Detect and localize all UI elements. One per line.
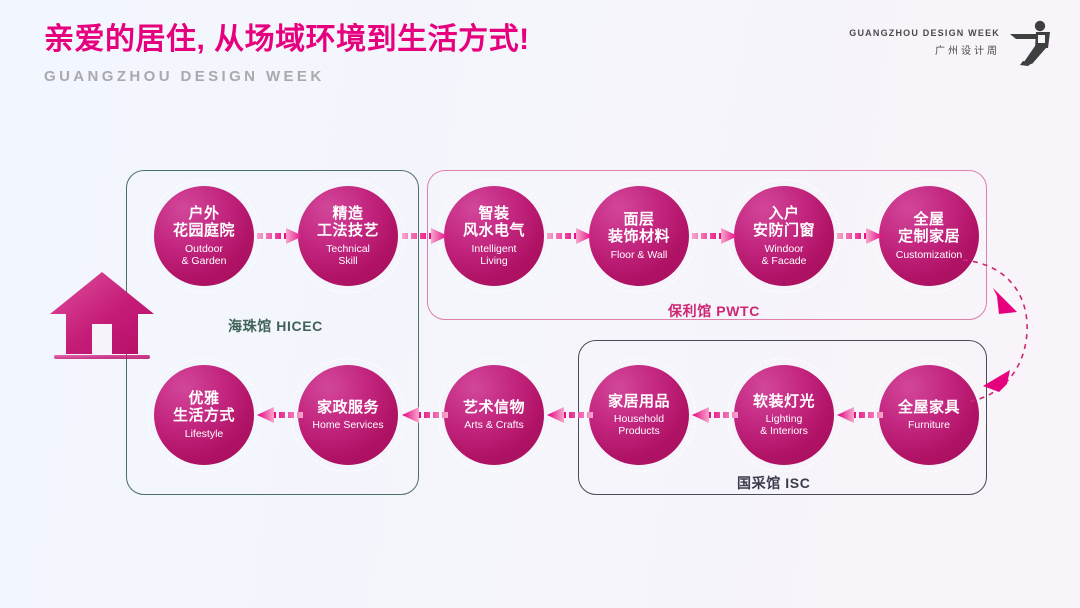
flow-node-outdoor-garden[interactable]: 户外 花园庭院 Outdoor & Garden xyxy=(154,186,254,286)
flow-arrow-left xyxy=(837,404,883,426)
node-label-cn: 全屋 定制家居 xyxy=(898,211,960,246)
node-label-cn: 软装灯光 xyxy=(753,393,815,411)
logo-chinese-name: 广州设计周 xyxy=(849,42,1000,57)
node-label-cn: 家居用品 xyxy=(608,393,670,411)
zone-label-hicec: 海珠馆 HICEC xyxy=(228,316,323,336)
node-label-cn: 入户 安防门窗 xyxy=(753,205,815,240)
flow-arrow-right xyxy=(402,225,448,247)
page-title: 亲爱的居住, 从场域环境到生活方式! xyxy=(44,22,530,58)
zone-label-pwtc: 保利馆 PWTC xyxy=(668,301,760,321)
flow-node-household-products[interactable]: 家居用品 Household Products xyxy=(589,365,689,465)
flow-node-windoor-facade[interactable]: 入户 安防门窗 Windoor & Facade xyxy=(734,186,834,286)
node-label-cn: 智装 风水电气 xyxy=(463,205,525,240)
flow-node-arts-crafts[interactable]: 艺术信物 Arts & Crafts xyxy=(444,365,544,465)
node-label-en: Household Products xyxy=(614,413,664,437)
flow-arrow-right xyxy=(547,225,593,247)
zone-label-isc: 国采馆 ISC xyxy=(737,473,810,493)
running-figure-logo-icon xyxy=(1008,18,1054,66)
node-label-cn: 艺术信物 xyxy=(463,399,525,417)
page-header: 亲爱的居住, 从场域环境到生活方式! GUANGZHOU DESIGN WEEK xyxy=(44,22,530,85)
node-label-en: Home Services xyxy=(312,419,383,431)
node-label-en: Outdoor & Garden xyxy=(182,243,227,267)
flow-arrow-right xyxy=(837,225,883,247)
node-label-cn: 全屋家具 xyxy=(898,399,960,417)
flow-node-lifestyle[interactable]: 优雅 生活方式 Lifestyle xyxy=(154,365,254,465)
node-label-en: Lifestyle xyxy=(185,428,224,440)
flow-node-intelligent-living[interactable]: 智装 风水电气 Intelligent Living xyxy=(444,186,544,286)
node-label-en: Lighting & Interiors xyxy=(760,413,808,437)
node-label-en: Intelligent Living xyxy=(472,243,517,267)
node-label-en: Windoor & Facade xyxy=(762,243,807,267)
flow-arrow-right xyxy=(257,225,303,247)
node-label-en: Furniture xyxy=(908,419,950,431)
page-subtitle: GUANGZHOU DESIGN WEEK xyxy=(44,68,530,85)
flow-node-lighting-interiors[interactable]: 软装灯光 Lighting & Interiors xyxy=(734,365,834,465)
flow-arrow-left xyxy=(692,404,738,426)
flow-node-floor-wall[interactable]: 面层 装饰材料 Floor & Wall xyxy=(589,186,689,286)
brand-logo: GUANGZHOU DESIGN WEEK 广州设计周 xyxy=(849,18,1054,66)
node-label-cn: 家政服务 xyxy=(317,399,379,417)
node-label-en: Floor & Wall xyxy=(611,249,668,261)
home-icon xyxy=(48,270,156,362)
flow-arrow-left xyxy=(257,404,303,426)
logo-english-name: GUANGZHOU DESIGN WEEK xyxy=(849,28,1000,38)
flow-curved-connector xyxy=(955,250,1060,415)
flow-node-technical-skill[interactable]: 精造 工法技艺 Technical Skill xyxy=(298,186,398,286)
node-label-cn: 精造 工法技艺 xyxy=(317,205,379,240)
flow-node-home-services[interactable]: 家政服务 Home Services xyxy=(298,365,398,465)
node-label-cn: 户外 花园庭院 xyxy=(173,205,235,240)
node-label-en: Arts & Crafts xyxy=(464,419,524,431)
node-label-en: Technical Skill xyxy=(326,243,370,267)
node-label-cn: 优雅 生活方式 xyxy=(173,390,235,425)
node-label-en: Customization xyxy=(896,249,963,261)
logo-text-block: GUANGZHOU DESIGN WEEK 广州设计周 xyxy=(849,28,1000,57)
flow-arrow-left xyxy=(547,404,593,426)
node-label-cn: 面层 装饰材料 xyxy=(608,211,670,246)
flow-arrow-left xyxy=(402,404,448,426)
flow-arrow-right xyxy=(692,225,738,247)
